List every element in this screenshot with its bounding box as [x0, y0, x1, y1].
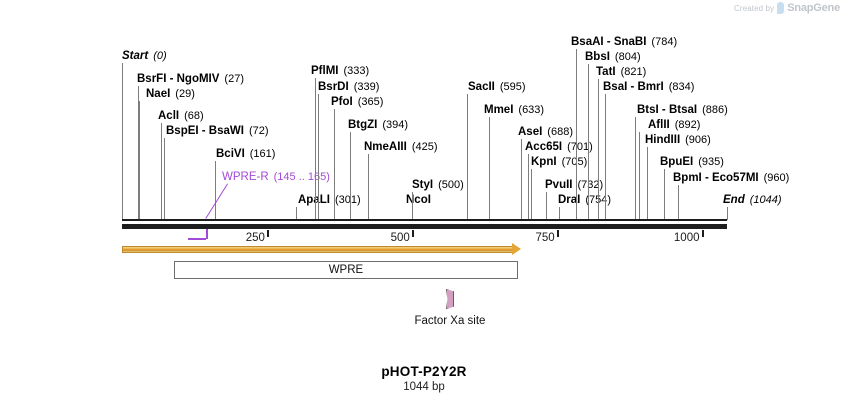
- enzyme-position: (333): [343, 65, 369, 77]
- enzyme-label[interactable]: PvuII(732): [545, 179, 603, 191]
- leader-line: [139, 101, 140, 220]
- primer-leader-line: [205, 183, 228, 219]
- enzyme-name: End: [723, 194, 745, 206]
- leader-line: [605, 94, 606, 220]
- watermark-brand: SnapGene: [787, 2, 840, 14]
- enzyme-label[interactable]: StyI(500): [412, 179, 464, 191]
- factor-xa-site-label: Factor Xa site: [415, 315, 486, 327]
- enzyme-name: AseI: [518, 126, 542, 138]
- enzyme-name: StyI: [412, 179, 433, 191]
- leader-line: [588, 64, 589, 220]
- terminus-label[interactable]: End(1044): [723, 194, 782, 206]
- leader-line: [678, 185, 679, 220]
- page-title: pHOT-P2Y2R: [0, 364, 848, 379]
- leader-line: [164, 138, 165, 220]
- enzyme-name: BpuEI: [660, 156, 693, 168]
- enzyme-name: TatI: [596, 66, 616, 78]
- enzyme-position: (701): [567, 141, 593, 153]
- ruler-tick-label: 750: [535, 232, 554, 244]
- enzyme-label[interactable]: BsrDI(339): [318, 81, 379, 93]
- enzyme-name: BsaAI - SnaBI: [571, 36, 646, 48]
- enzyme-position: (301): [335, 194, 361, 206]
- enzyme-label[interactable]: BtgZI(394): [348, 119, 408, 131]
- enzyme-label[interactable]: NaeI(29): [146, 88, 195, 100]
- enzyme-name: ApaLI: [298, 194, 330, 206]
- plasmid-size-label: 1044 bp: [0, 381, 848, 393]
- plasmid-map-canvas: Created by SnapGene Start(0)BsrFI - NgoM…: [0, 0, 848, 403]
- leader-line: [368, 154, 369, 220]
- enzyme-name: BpmI - Eco57MI: [673, 172, 759, 184]
- orf-arrow-head-icon: [512, 243, 521, 255]
- leader-line: [635, 117, 636, 220]
- enzyme-position: (834): [669, 81, 695, 93]
- enzyme-label[interactable]: DraI(754): [558, 194, 611, 206]
- enzyme-position: (886): [702, 104, 728, 116]
- enzyme-position: (68): [184, 110, 204, 122]
- enzyme-label[interactable]: BciVI(161): [216, 148, 275, 160]
- enzyme-label[interactable]: Acc65I(701): [525, 141, 593, 153]
- enzyme-name: BtsI - BtsaI: [637, 104, 697, 116]
- orf-arrow[interactable]: [122, 246, 513, 253]
- primer-marker-tick: [206, 229, 208, 239]
- enzyme-name: BsaI - BmrI: [603, 81, 664, 93]
- leader-line: [576, 49, 577, 220]
- feature-wpre-label: WPRE: [329, 264, 364, 276]
- enzyme-name: AclI: [158, 110, 179, 122]
- ruler-tick-label: 500: [391, 232, 410, 244]
- enzyme-position: (339): [354, 81, 380, 93]
- enzyme-position: (705): [562, 156, 588, 168]
- enzyme-name: PflMI: [311, 65, 338, 77]
- ruler-tick-label: 250: [246, 232, 265, 244]
- leader-line: [467, 94, 468, 220]
- enzyme-label[interactable]: BbsI(804): [585, 51, 641, 63]
- leader-line: [215, 161, 216, 220]
- leader-line: [727, 207, 728, 220]
- enzyme-label[interactable]: SacII(595): [468, 81, 526, 93]
- leader-line: [639, 132, 640, 220]
- enzyme-label[interactable]: AclI(68): [158, 110, 204, 122]
- leader-line: [598, 79, 599, 220]
- enzyme-position: (27): [224, 73, 244, 85]
- enzyme-name: Acc65I: [525, 141, 562, 153]
- enzyme-position: (784): [651, 36, 677, 48]
- enzyme-position: (633): [518, 104, 544, 116]
- plasmid-backbone: [122, 224, 727, 229]
- enzyme-label[interactable]: BpmI - Eco57MI(960): [673, 172, 789, 184]
- factor-xa-site-marker[interactable]: [446, 289, 454, 309]
- ruler-tick: [557, 230, 559, 237]
- enzyme-label[interactable]: NmeAIII(425): [364, 141, 438, 153]
- enzyme-name: SacII: [468, 81, 495, 93]
- leader-line: [489, 117, 490, 220]
- enzyme-name: PfoI: [331, 96, 353, 108]
- ruler-tick-label: 1000: [674, 232, 700, 244]
- enzyme-label[interactable]: BsrFI - NgoMIV(27): [137, 73, 244, 85]
- snapgene-logo-icon: [777, 2, 784, 14]
- enzyme-position: (892): [675, 119, 701, 131]
- enzyme-name: BspEI - BsaWI: [166, 125, 244, 137]
- enzyme-position: (365): [358, 96, 384, 108]
- terminus-label[interactable]: Start(0): [122, 50, 167, 62]
- enzyme-label[interactable]: PfoI(365): [331, 96, 383, 108]
- enzyme-label[interactable]: BspEI - BsaWI(72): [166, 125, 269, 137]
- enzyme-position: (688): [547, 126, 573, 138]
- leader-line: [546, 192, 547, 220]
- enzyme-name: KpnI: [531, 156, 557, 168]
- enzyme-label[interactable]: BsaAI - SnaBI(784): [571, 36, 677, 48]
- enzyme-name: NmeAIII: [364, 141, 407, 153]
- enzyme-position: (960): [764, 172, 790, 184]
- enzyme-position: (935): [698, 156, 724, 168]
- leader-line: [531, 169, 532, 220]
- enzyme-position: (906): [685, 134, 711, 146]
- primer-marker-bar: [188, 238, 206, 240]
- enzyme-label[interactable]: HindIII(906): [645, 134, 711, 146]
- enzyme-name: BbsI: [585, 51, 610, 63]
- enzyme-name: NcoI: [406, 194, 431, 206]
- enzyme-position: (394): [382, 119, 408, 131]
- leader-line: [334, 109, 335, 220]
- leader-line: [161, 123, 162, 220]
- primer-range: (145 .. 165): [274, 171, 330, 183]
- leader-line: [528, 154, 529, 220]
- leader-line: [521, 139, 522, 220]
- enzyme-label[interactable]: NcoI: [406, 194, 431, 206]
- enzyme-position: (732): [577, 179, 603, 191]
- ruler-tick: [702, 230, 704, 237]
- ruler-tick: [267, 230, 269, 237]
- backbone-thin-line: [122, 219, 727, 221]
- enzyme-position: (821): [621, 66, 647, 78]
- enzyme-label[interactable]: MmeI(633): [484, 104, 544, 116]
- enzyme-name: BsrFI - NgoMIV: [137, 73, 219, 85]
- enzyme-position: (500): [438, 179, 464, 191]
- leader-line: [122, 63, 123, 220]
- enzyme-position: (1044): [750, 194, 782, 206]
- enzyme-label[interactable]: BtsI - BtsaI(886): [637, 104, 728, 116]
- enzyme-position: (595): [500, 81, 526, 93]
- primer-label-wpre-r[interactable]: WPRE-R(145 .. 165): [222, 171, 330, 183]
- leader-line: [315, 78, 316, 220]
- ruler-tick: [412, 230, 414, 237]
- enzyme-position: (0): [153, 50, 166, 62]
- enzyme-position: (804): [615, 51, 641, 63]
- enzyme-position: (161): [250, 148, 276, 160]
- enzyme-name: BsrDI: [318, 81, 349, 93]
- enzyme-label[interactable]: AflII(892): [648, 119, 700, 131]
- primer-name: WPRE-R: [222, 171, 269, 183]
- leader-line: [318, 94, 319, 220]
- enzyme-name: HindIII: [645, 134, 680, 146]
- enzyme-name: PvuII: [545, 179, 572, 191]
- enzyme-name: BtgZI: [348, 119, 377, 131]
- leader-line: [664, 169, 665, 220]
- enzyme-position: (72): [249, 125, 269, 137]
- feature-wpre[interactable]: WPRE: [174, 261, 518, 279]
- enzyme-name: NaeI: [146, 88, 170, 100]
- snapgene-watermark: Created by SnapGene: [734, 2, 840, 14]
- leader-line: [647, 147, 648, 220]
- enzyme-label[interactable]: BpuEI(935): [660, 156, 724, 168]
- watermark-prefix: Created by: [734, 4, 774, 13]
- enzyme-label[interactable]: BsaI - BmrI(834): [603, 81, 694, 93]
- enzyme-position: (425): [412, 141, 438, 153]
- enzyme-name: Start: [122, 50, 148, 62]
- enzyme-name: BciVI: [216, 148, 245, 160]
- leader-line: [350, 132, 351, 220]
- enzyme-label[interactable]: AseI(688): [518, 126, 573, 138]
- enzyme-label[interactable]: TatI(821): [596, 66, 646, 78]
- enzyme-name: MmeI: [484, 104, 513, 116]
- enzyme-position: (29): [175, 88, 195, 100]
- enzyme-name: AflII: [648, 119, 670, 131]
- enzyme-label[interactable]: PflMI(333): [311, 65, 369, 77]
- enzyme-label[interactable]: KpnI(705): [531, 156, 587, 168]
